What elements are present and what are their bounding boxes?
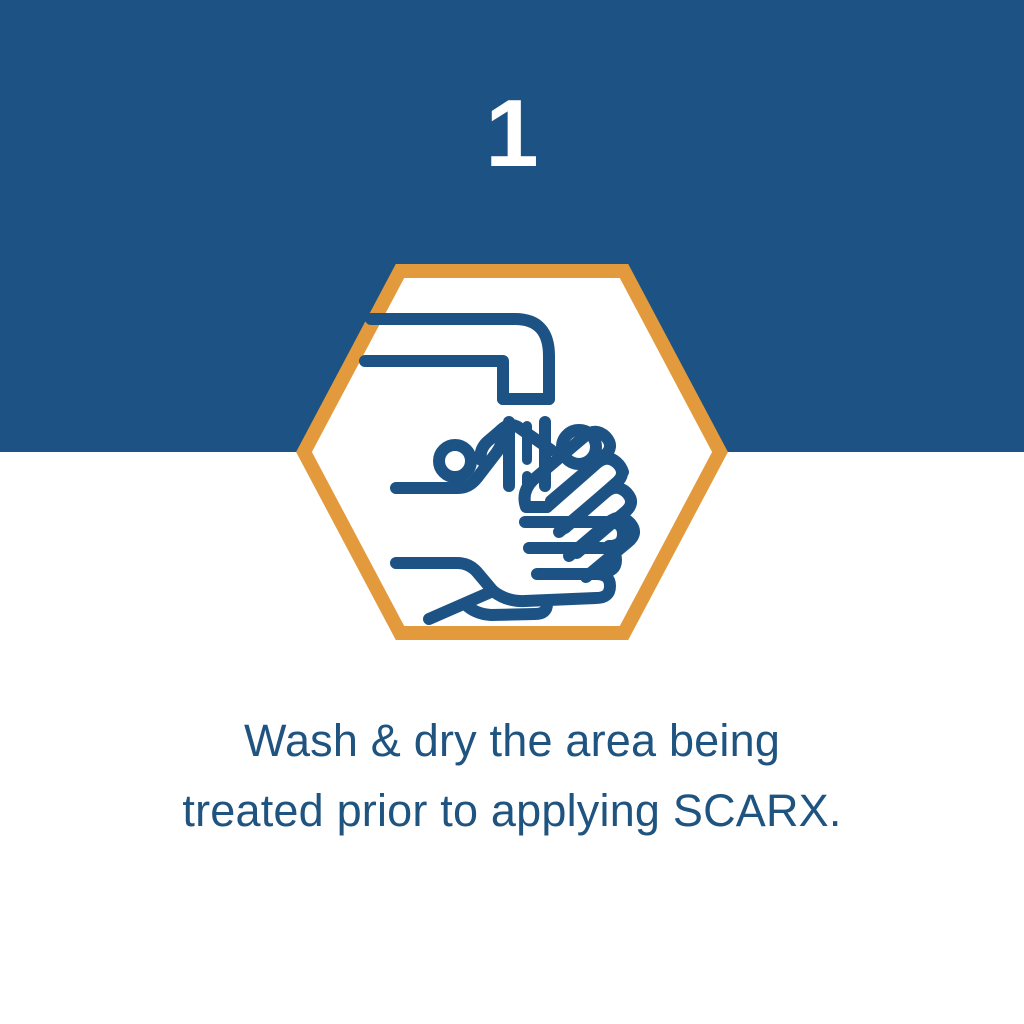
caption-line-1: Wash & dry the area being xyxy=(62,706,962,776)
caption: Wash & dry the area being treated prior … xyxy=(62,706,962,846)
caption-line-2: treated prior to applying SCARX. xyxy=(62,776,962,846)
step-number: 1 xyxy=(0,86,1024,182)
instruction-card: 1 xyxy=(0,0,1024,1024)
hexagon-badge xyxy=(297,264,727,640)
